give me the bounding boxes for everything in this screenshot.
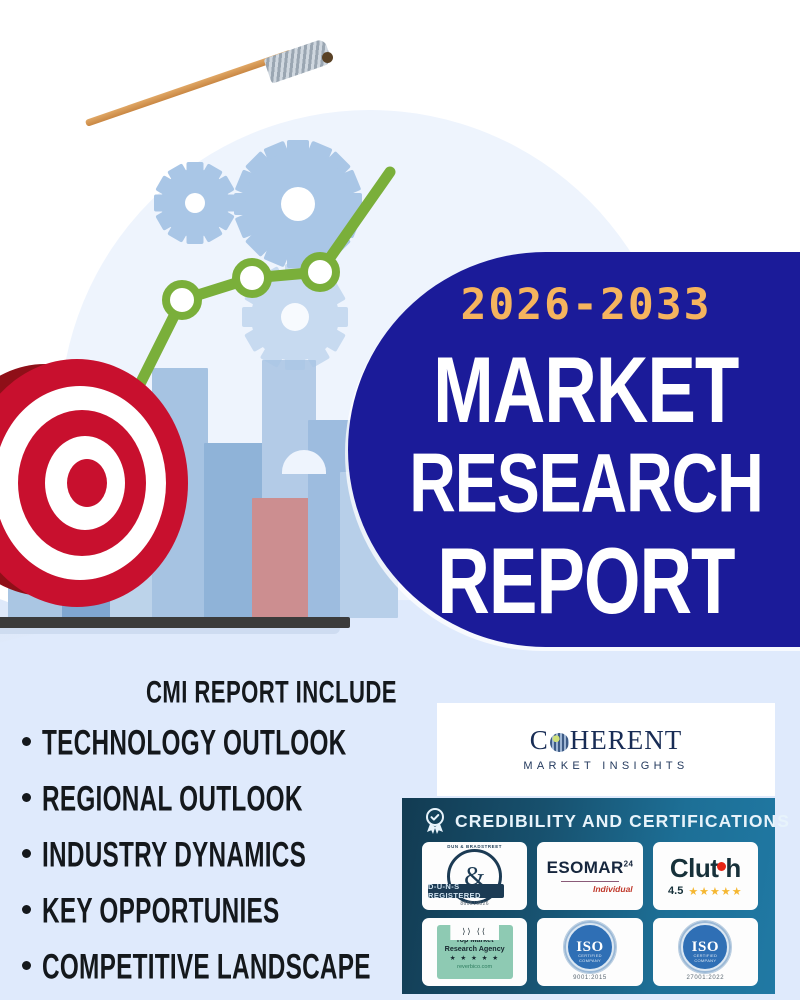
clutch-rating-value: 4.5: [668, 885, 683, 897]
duns-registered-band: D-U-N-S REGISTERED: [428, 884, 504, 898]
esomar-superscript: 24: [624, 859, 634, 868]
title-line-market: MARKET: [433, 347, 738, 434]
brand-name-c: C: [530, 727, 549, 754]
title-line-report: REPORT: [437, 538, 734, 625]
report-include-heading: CMI REPORT INCLUDE: [146, 674, 397, 711]
duns-number: 860519526: [422, 901, 527, 907]
reverbico-url: reverbico.com: [457, 964, 492, 970]
list-item-label: TECHNOLOGY OUTLOOK: [42, 725, 347, 765]
badge-iso-27001: ISO CERTIFIED COMPANY 27001:2022: [653, 918, 758, 986]
credibility-header: CREDIBILITY AND CERTIFICATIONS: [424, 808, 790, 834]
esomar-rule: [561, 881, 619, 883]
badge-iso-9001: ISO CERTIFIED COMPANY 9001:2015: [537, 918, 642, 986]
bullet-dot-icon: [22, 905, 31, 914]
brand-tagline: MARKET INSIGHTS: [523, 760, 688, 772]
report-years: 2026-2033: [461, 284, 712, 327]
badge-clutch: Cluth 4.5 ★★★★★: [653, 842, 758, 910]
iso-seal-icon: ISO CERTIFIED COMPANY: [681, 923, 729, 971]
list-item-label: REGIONAL OUTLOOK: [42, 781, 303, 821]
clutch-dot-icon: [717, 862, 726, 871]
badge-reverbico: ⟩⟩ ⟨⟨ Top Market Research Agency ★ ★ ★ ★…: [422, 918, 527, 986]
poster-canvas: 2026-2033 MARKET RESEARCH REPORT CMI REP…: [0, 0, 800, 1000]
title-line-research: RESEARCH: [409, 446, 763, 523]
badge-duns: DUN & BRADSTREET & D-U-N-S REGISTERED 86…: [422, 842, 527, 910]
reverbico-line2: Research Agency: [445, 944, 505, 953]
list-item: TECHNOLOGY OUTLOOK: [22, 728, 422, 784]
esomar-sub-label: Individual: [593, 884, 633, 894]
iso-caption: 27001:2022: [686, 975, 724, 981]
laurel-icon: ⟩⟩ ⟨⟨: [462, 927, 487, 936]
clutch-wordmark: Cluth: [670, 855, 741, 881]
credibility-panel: CREDIBILITY AND CERTIFICATIONS DUN & BRA…: [402, 798, 775, 994]
clutch-rating: 4.5 ★★★★★: [668, 885, 743, 898]
list-item: COMPETITIVE LANDSCAPE: [22, 952, 422, 1000]
list-item-label: COMPETITIVE LANDSCAPE: [42, 949, 371, 989]
list-item: REGIONAL OUTLOOK: [22, 784, 422, 840]
reverbico-stars-icon: ★ ★ ★ ★ ★: [450, 954, 500, 962]
bullet-dot-icon: [22, 793, 31, 802]
iso-seal-icon: ISO CERTIFIED COMPANY: [566, 923, 614, 971]
credibility-heading: CREDIBILITY AND CERTIFICATIONS: [455, 811, 790, 832]
esomar-name: ESOMAR: [547, 858, 624, 877]
report-include-list: TECHNOLOGY OUTLOOK REGIONAL OUTLOOK INDU…: [22, 728, 422, 1000]
iso-seal-sub: CERTIFIED COMPANY: [568, 953, 612, 963]
badge-esomar: ESOMAR24 Individual: [537, 842, 642, 910]
ground-line: [0, 617, 350, 628]
title-block: 2026-2033 MARKET RESEARCH REPORT: [372, 262, 800, 637]
brand-logo-card: C HERENT MARKET INSIGHTS: [437, 703, 775, 796]
bullet-dot-icon: [22, 961, 31, 970]
list-item: KEY OPPORTUNIES: [22, 896, 422, 952]
certification-badge-grid: DUN & BRADSTREET & D-U-N-S REGISTERED 86…: [422, 842, 758, 986]
globe-icon: [550, 733, 569, 752]
iso-caption: 9001:2015: [573, 975, 607, 981]
reverbico-plaque: ⟩⟩ ⟨⟨ Top Market Research Agency ★ ★ ★ ★…: [437, 925, 513, 979]
bullet-dot-icon: [22, 737, 31, 746]
clutch-stars-icon: ★★★★★: [688, 885, 742, 898]
list-item-label: KEY OPPORTUNIES: [42, 893, 280, 933]
list-item: INDUSTRY DYNAMICS: [22, 840, 422, 896]
iso-seal-sub: CERTIFIED COMPANY: [683, 953, 727, 963]
brand-name-rest: HERENT: [570, 727, 682, 754]
esomar-wordmark: ESOMAR24: [547, 858, 634, 878]
bullet-dot-icon: [22, 849, 31, 858]
award-ribbon-icon: [424, 808, 446, 834]
bullseye-target-icon: [0, 358, 192, 608]
list-item-label: INDUSTRY DYNAMICS: [42, 837, 306, 877]
brand-wordmark: C HERENT: [530, 727, 683, 754]
